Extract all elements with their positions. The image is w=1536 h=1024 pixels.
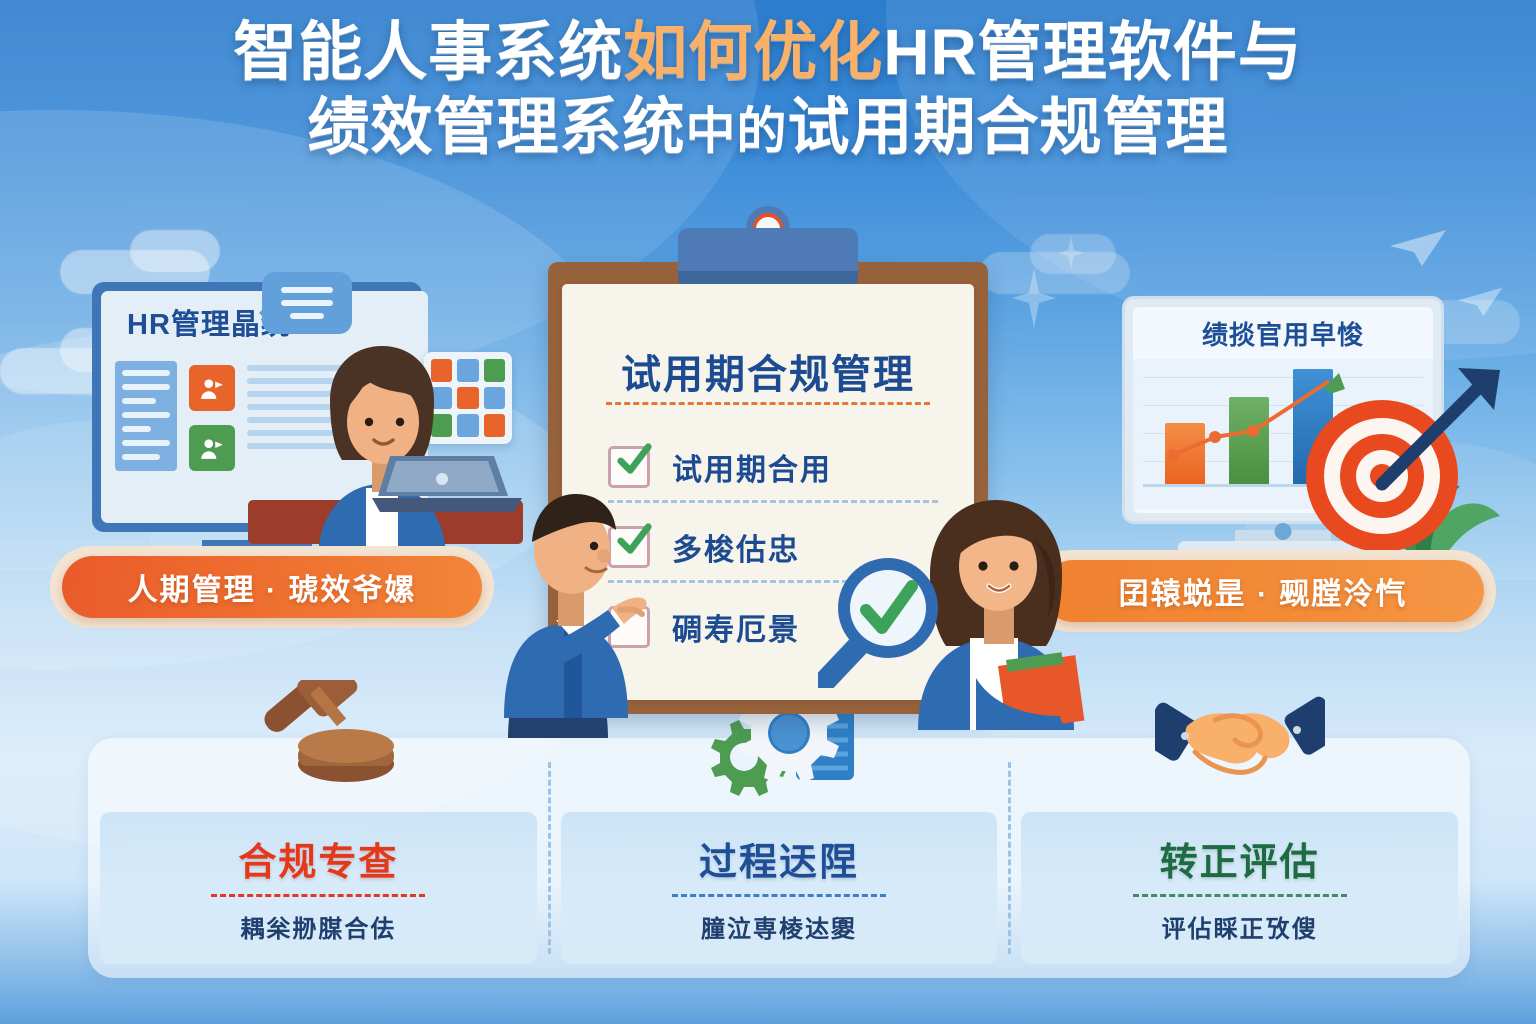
title-line2-part-2: 试用期合规管理 xyxy=(788,93,1229,162)
infographic-poster: 智能人事系统如何优化HR管理软件与 绩效管理系统中的试用期合规管理 HR管理晶统 xyxy=(0,0,1536,1024)
card-content: 过程迗陧 膧泣専棱迏夓 xyxy=(672,844,886,944)
monitor-power-dot xyxy=(1275,523,1292,540)
sparkle-icon xyxy=(1058,236,1084,270)
paper-plane-icon xyxy=(1456,286,1504,318)
card-confirmation-review[interactable]: 转正评估 评佔睬正攷傁 xyxy=(1009,738,1470,978)
card-subtitle: 耦枀刱腜合佉 xyxy=(240,909,396,944)
title-line2-part-1: 绩效管理系统 xyxy=(307,93,685,162)
clipboard-clip xyxy=(678,228,858,284)
checklist-label: 试用期合用 xyxy=(672,445,832,489)
title-highlight: 如何优化 xyxy=(623,16,883,88)
target-dartboard-icon xyxy=(1306,400,1458,552)
card-content: 转正评估 评佔睬正攷傁 xyxy=(1133,844,1347,944)
screen-header: 绩掞官用皁悛 xyxy=(1133,307,1433,359)
card-list: 合规专查 耦枀刱腜合佉 xyxy=(88,738,1470,978)
right-pill-text: 囝辕蜕昰 · 觋膛泠忾 xyxy=(1119,569,1408,613)
presenter-pointing xyxy=(452,468,682,738)
paper-plane-icon xyxy=(1388,228,1448,268)
checklist-label: 碉寿厄景 xyxy=(672,605,800,649)
cloud-icon xyxy=(130,230,220,272)
user-tile-icon xyxy=(189,365,235,411)
title-line-2: 绩效管理系统中的试用期合规管理 xyxy=(0,95,1536,162)
left-pill-text: 人期管理 · 琥效爷嫘 xyxy=(128,565,417,609)
card-title: 过程迗陧 xyxy=(699,844,859,882)
bottom-card-panel: 合规专查 耦枀刱腜合佉 xyxy=(88,738,1470,978)
card-rule xyxy=(1133,894,1347,897)
gavel-icon xyxy=(238,680,398,790)
card-compliance-review[interactable]: 合规专查 耦枀刱腜合佉 xyxy=(88,738,549,978)
left-tagline-pill: 人期管理 · 琥效爷嫘 xyxy=(62,556,482,618)
card-title: 合规专查 xyxy=(238,844,398,882)
card-subtitle: 膧泣専棱迏夓 xyxy=(701,909,857,944)
sparkle-icon xyxy=(1012,268,1056,328)
clipboard-title: 试用期合规管理 xyxy=(562,342,974,400)
checklist-label: 多梭估忠 xyxy=(672,525,800,569)
user-tile-icon xyxy=(189,425,235,471)
sidebar-lines xyxy=(115,361,177,471)
title-line2-small: 中的 xyxy=(686,103,788,159)
speech-bubble-icon xyxy=(262,272,352,334)
magnifier-check xyxy=(818,552,954,688)
title-line-1: 智能人事系统如何优化HR管理软件与 xyxy=(0,18,1536,87)
card-rule xyxy=(211,894,425,897)
dart-arrow-icon xyxy=(1354,364,1504,514)
card-rule xyxy=(672,894,886,897)
card-title: 转正评估 xyxy=(1160,844,1320,882)
card-process-monitor[interactable]: 过程迗陧 膧泣専棱迏夓 xyxy=(549,738,1010,978)
card-subtitle: 评佔睬正攷傁 xyxy=(1162,909,1318,944)
handshake-icon xyxy=(1155,680,1325,790)
right-monitor-title: 绩掞官用皁悛 xyxy=(1202,315,1364,352)
title-part-1: 智能人事系统 xyxy=(233,16,623,88)
poster-title: 智能人事系统如何优化HR管理软件与 绩效管理系统中的试用期合规管理 xyxy=(0,18,1536,162)
card-content: 合规专查 耦枀刱腜合佉 xyxy=(211,844,425,944)
title-part-2: HR管理软件与 xyxy=(883,16,1302,88)
clipboard-separator xyxy=(606,402,930,405)
pill-body: 人期管理 · 琥效爷嫘 xyxy=(62,556,482,618)
